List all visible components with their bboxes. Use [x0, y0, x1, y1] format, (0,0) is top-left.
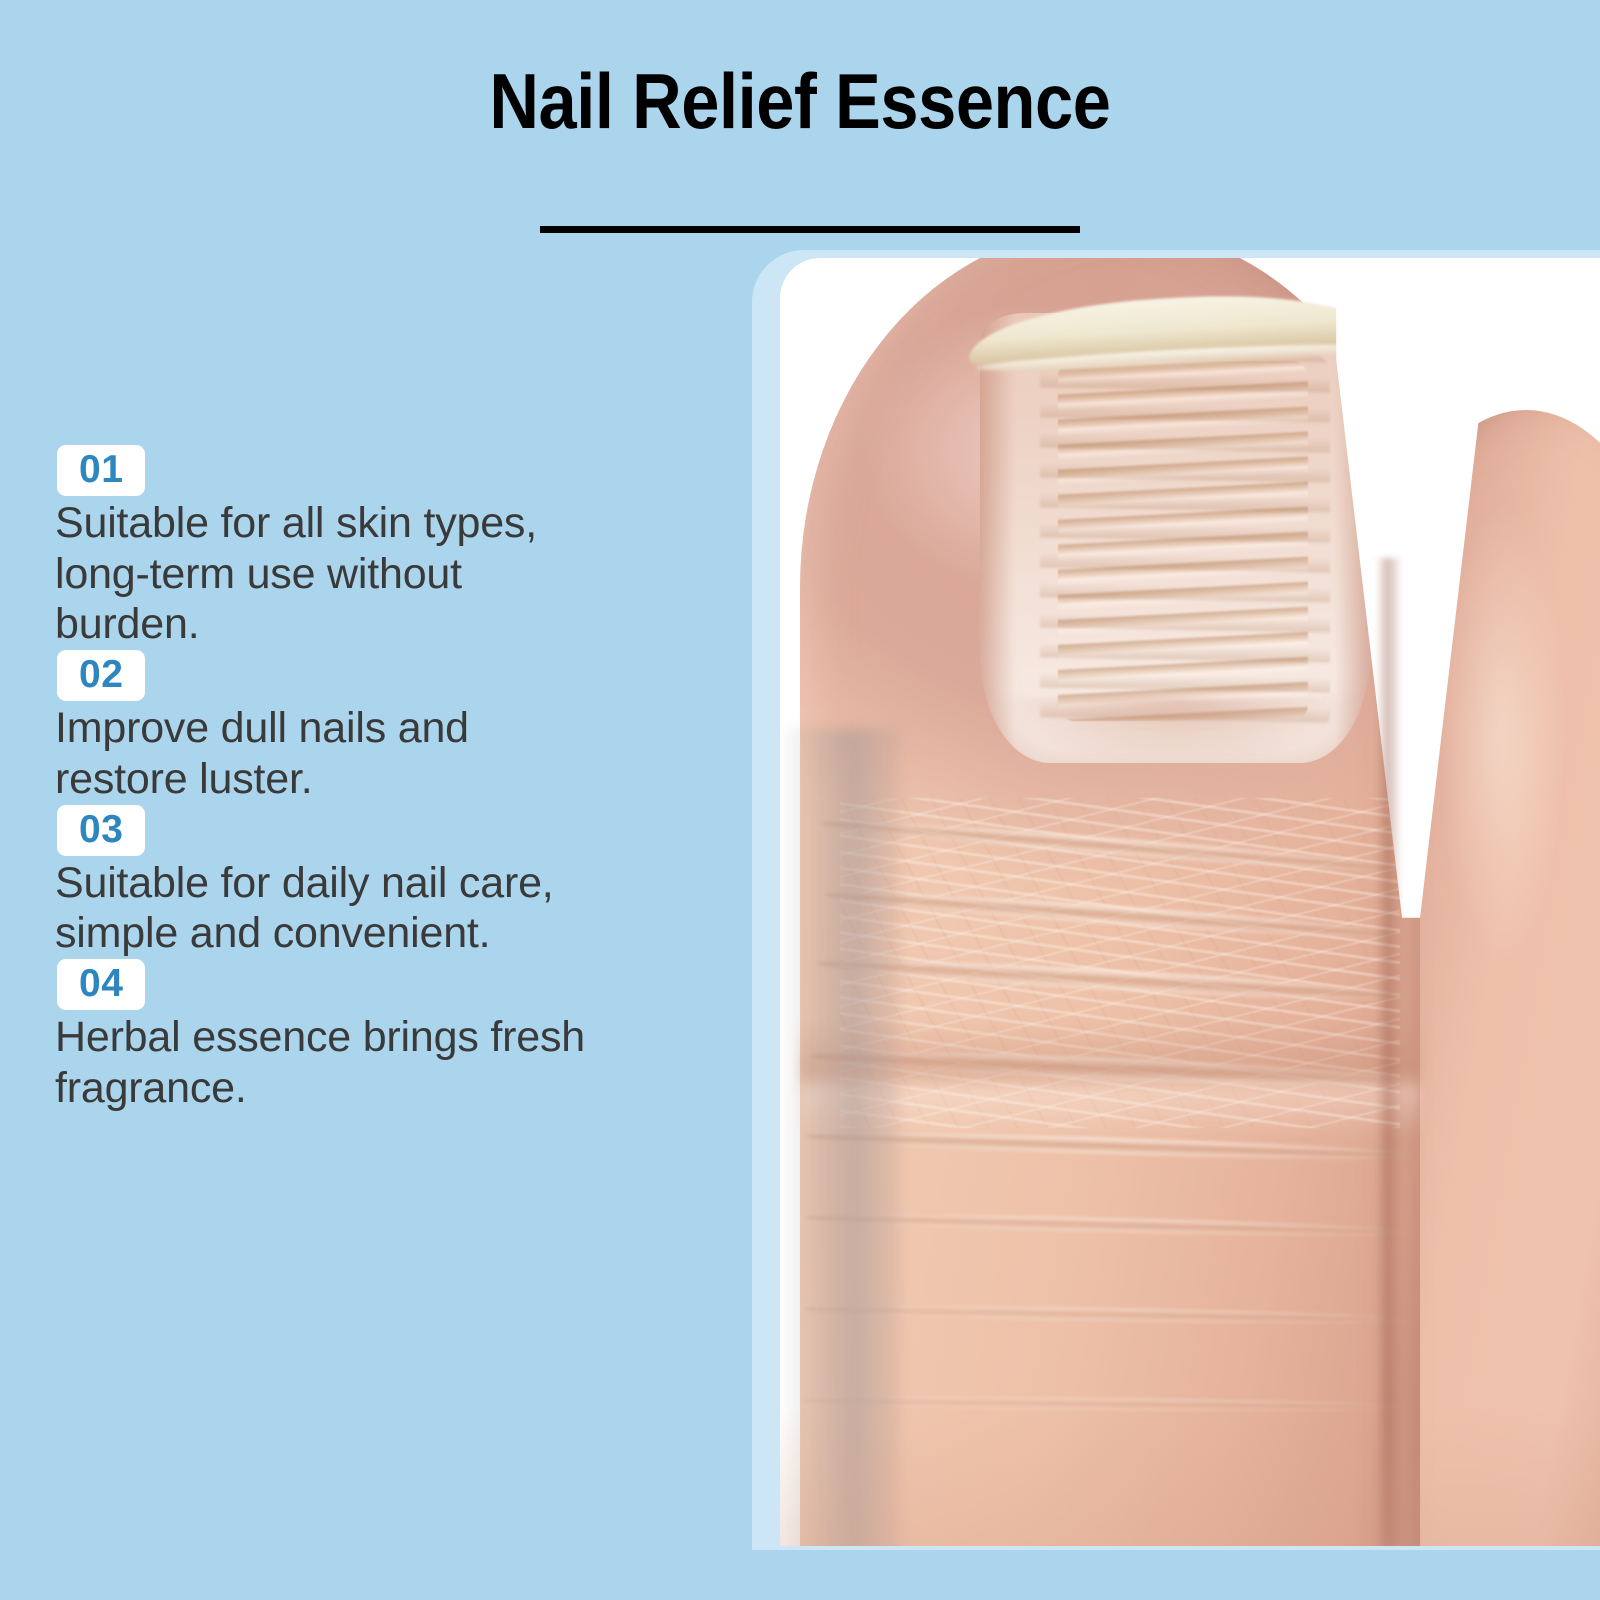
feature-text: Suitable for all skin types, long-term u…	[55, 498, 695, 650]
feature-number: 02	[79, 653, 123, 696]
product-photo-card	[780, 258, 1600, 1546]
list-item: 03 Suitable for daily nail care, simple …	[55, 805, 695, 959]
feature-number: 03	[79, 808, 123, 851]
feature-badge-02: 02	[57, 650, 145, 701]
feature-badge-04: 04	[57, 959, 145, 1010]
list-item: 02 Improve dull nails and restore luster…	[55, 650, 695, 804]
cuticle-shadow	[976, 698, 1374, 788]
page-title-wrap: Nail Relief Essence	[0, 62, 1600, 140]
thumb-left-shadow	[780, 728, 900, 1546]
list-item: 04 Herbal essence brings fresh fragrance…	[55, 959, 695, 1113]
feature-text: Suitable for daily nail care, simple and…	[55, 858, 695, 959]
feature-list: 01 Suitable for all skin types, long-ter…	[55, 445, 695, 1114]
page-title: Nail Relief Essence	[489, 62, 1110, 140]
feature-text: Herbal essence brings fresh fragrance.	[55, 1012, 695, 1113]
feature-number: 01	[79, 448, 123, 491]
feature-badge-01: 01	[57, 445, 145, 496]
nail-plate	[980, 313, 1370, 763]
title-divider	[540, 226, 1080, 233]
nail-closeup-photo	[780, 258, 1600, 1546]
feature-badge-03: 03	[57, 805, 145, 856]
feature-number: 04	[79, 962, 123, 1005]
feature-text: Improve dull nails and restore luster.	[55, 703, 695, 804]
nail-ridges-secondary	[1040, 353, 1330, 733]
product-infographic: Nail Relief Essence 01 Suitable for all …	[0, 0, 1600, 1600]
list-item: 01 Suitable for all skin types, long-ter…	[55, 445, 695, 650]
finger-gap-shadow	[1376, 558, 1402, 1546]
